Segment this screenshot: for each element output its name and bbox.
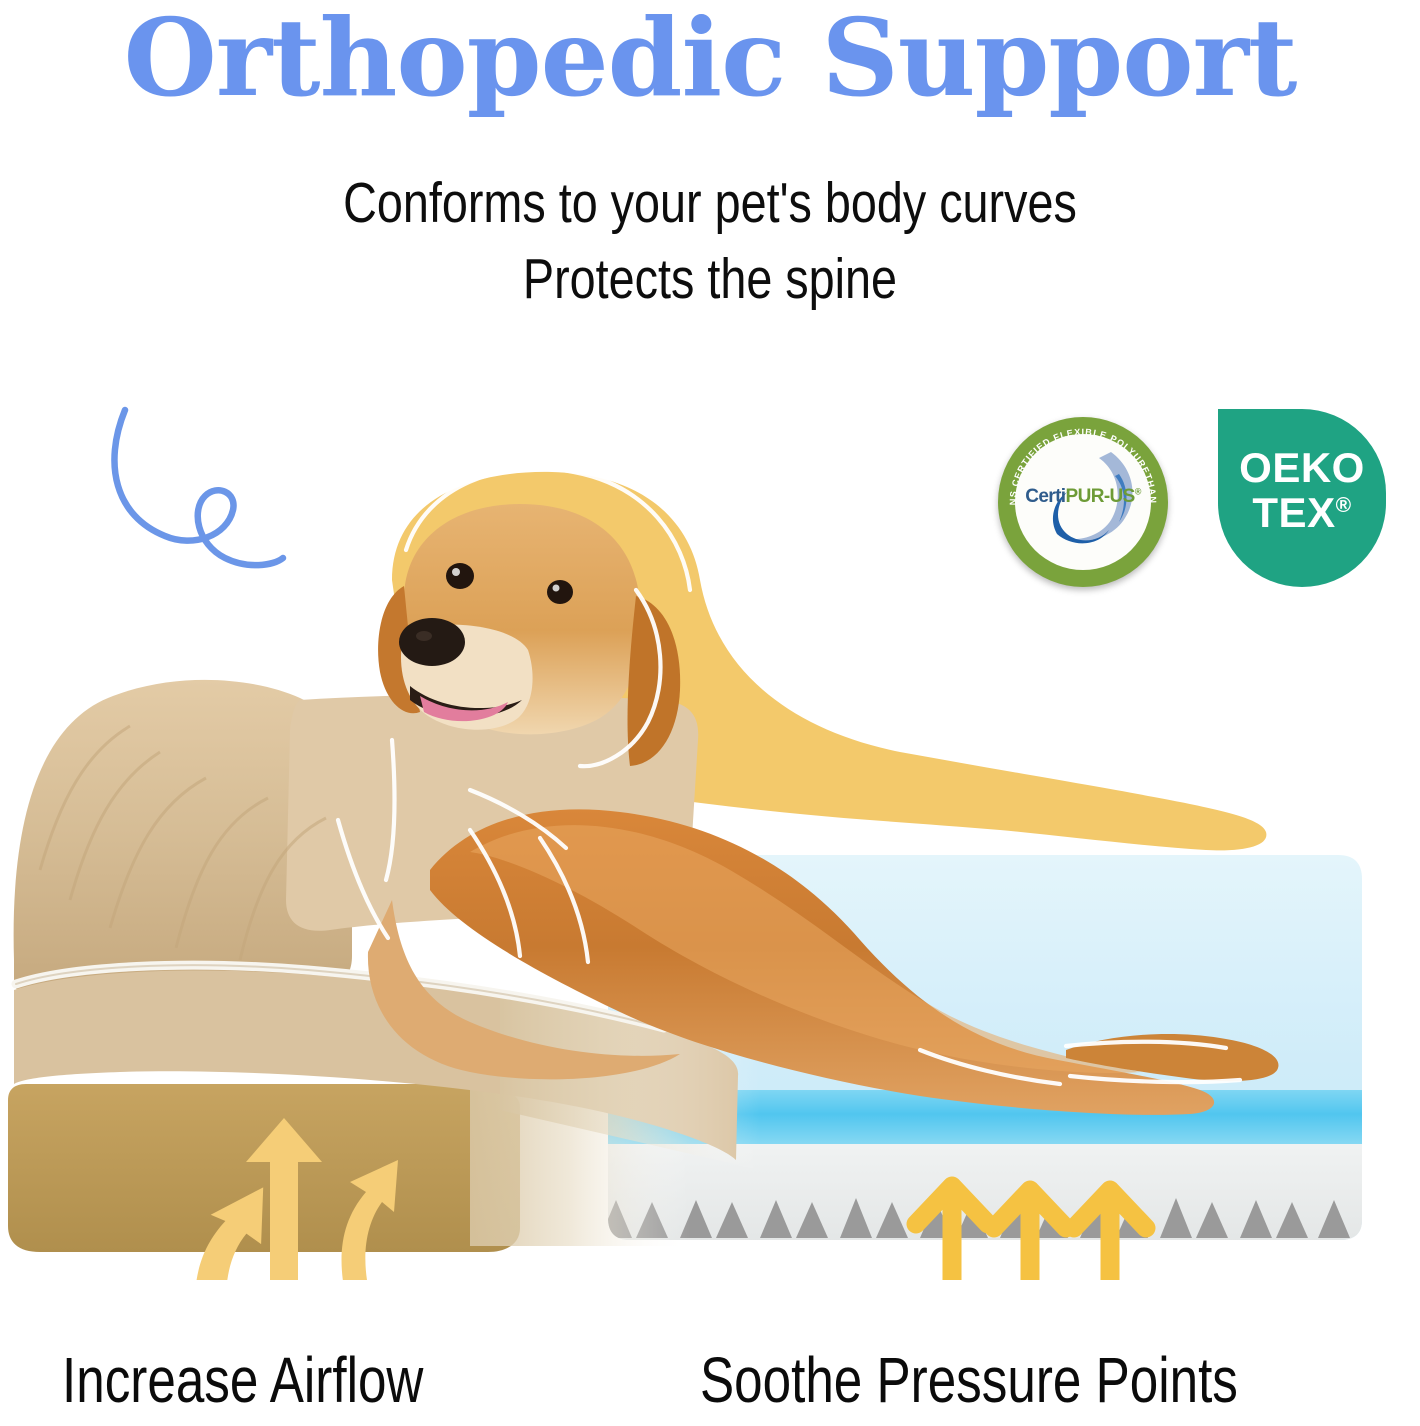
certipur-name-part2: PUR-US bbox=[1066, 486, 1135, 507]
subtitle-line-1: Conforms to your pet's body curves bbox=[128, 166, 1292, 242]
certipur-name-part1: Certi bbox=[1025, 486, 1065, 507]
caption-soothe-pressure-points: Soothe Pressure Points bbox=[700, 1348, 1238, 1412]
caption-increase-airflow: Increase Airflow bbox=[62, 1348, 423, 1412]
certipur-registered-mark: ® bbox=[1135, 487, 1141, 497]
dog-eye-right bbox=[547, 580, 573, 604]
page-title: Orthopedic Support bbox=[0, 4, 1420, 114]
subtitle-block: Conforms to your pet's body curves Prote… bbox=[0, 166, 1420, 318]
dog-eye-left bbox=[446, 563, 474, 589]
product-illustration bbox=[0, 400, 1420, 1280]
pressure-arrows bbox=[916, 1186, 1146, 1280]
dog-nose bbox=[399, 618, 465, 666]
bed-base-slab bbox=[8, 1084, 520, 1252]
certipur-wordmark: CertiPUR-US® bbox=[1015, 486, 1151, 508]
subtitle-line-2: Protects the spine bbox=[128, 242, 1292, 318]
